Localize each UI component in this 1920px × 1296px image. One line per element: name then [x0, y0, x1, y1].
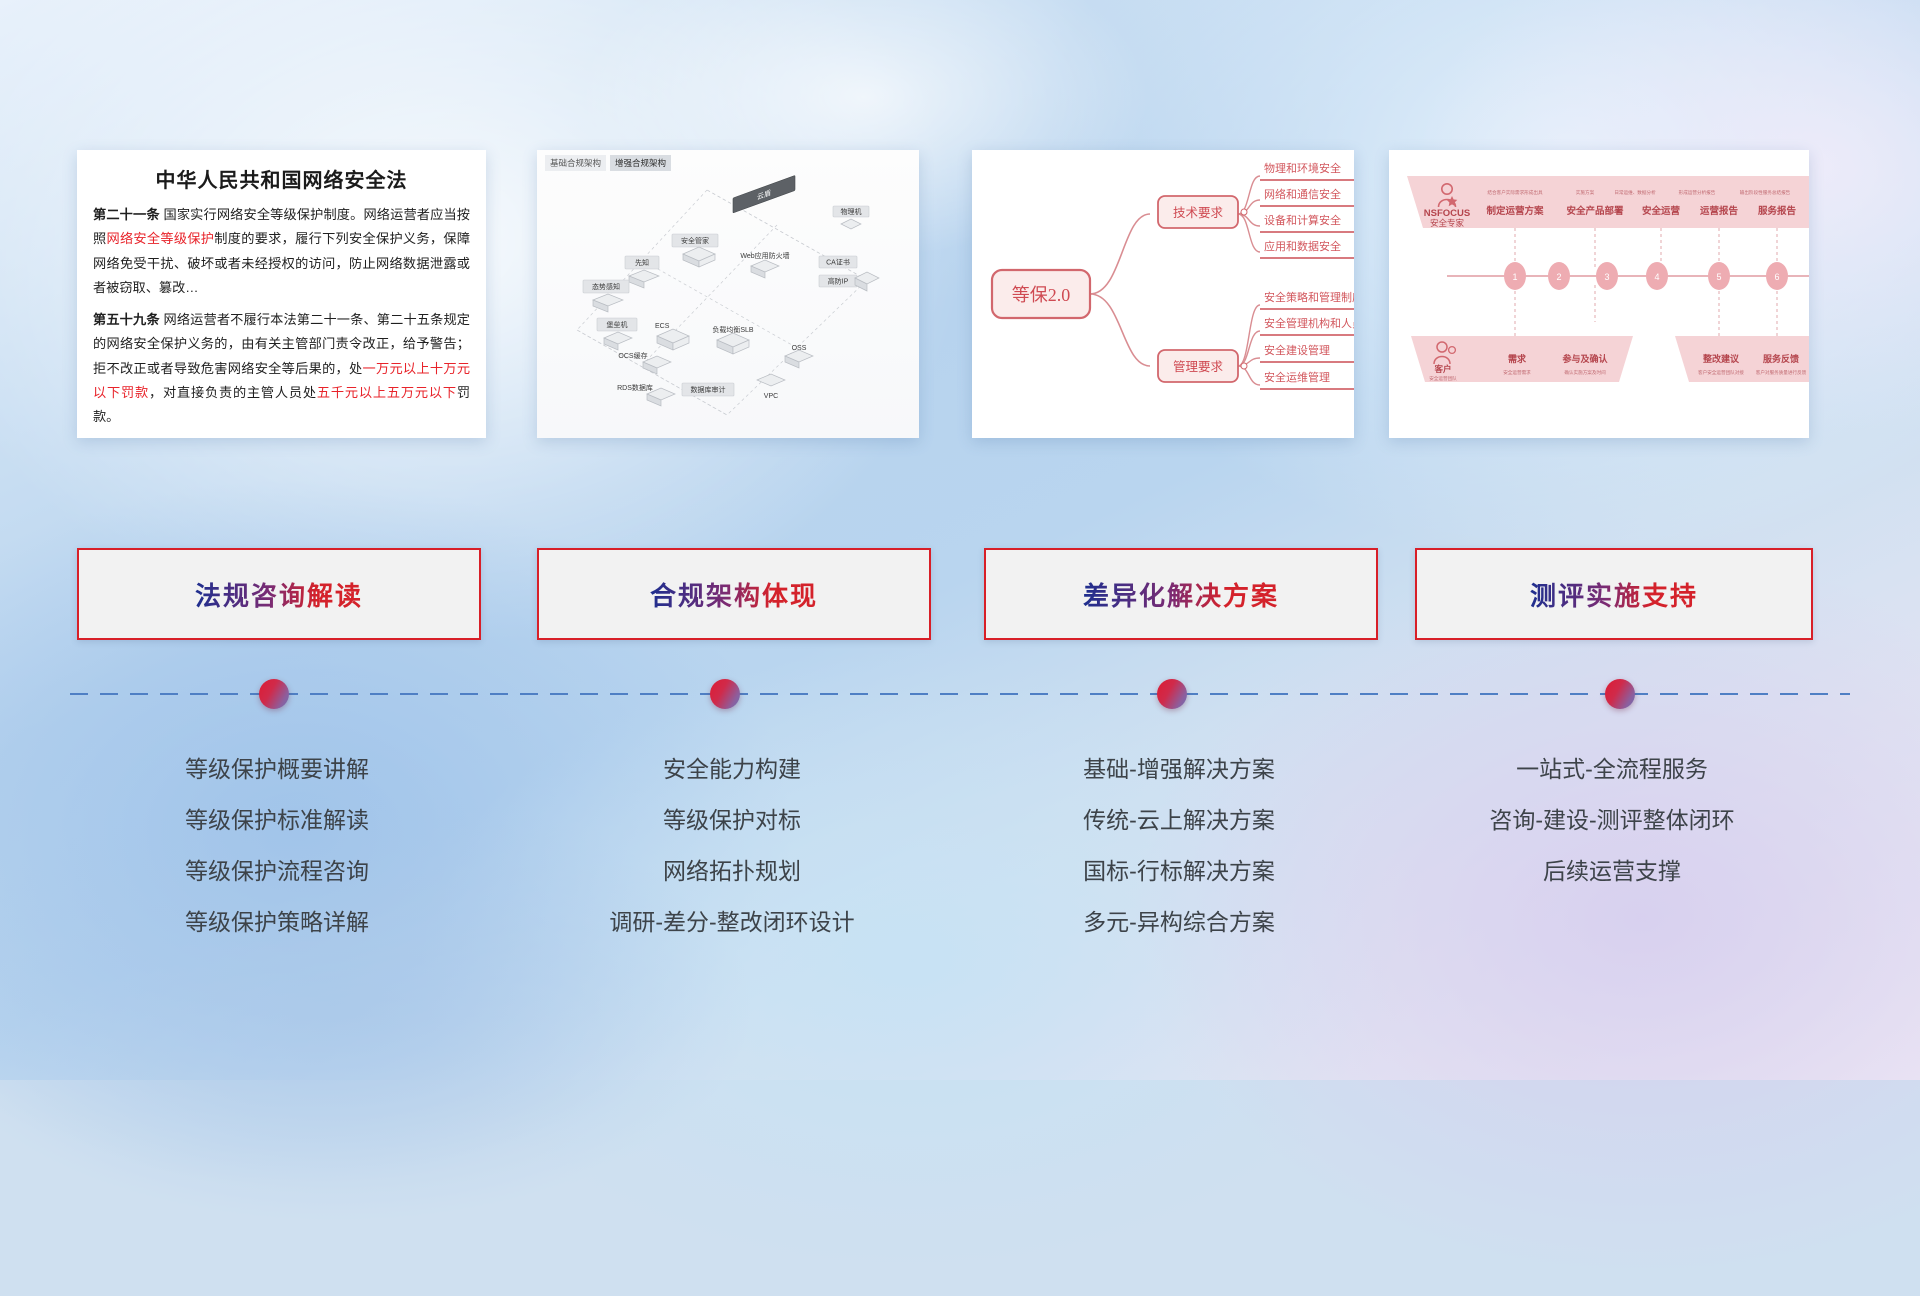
stage-button-1[interactable]: 合规架构体现 — [537, 548, 931, 640]
nsfocus-bottom-title-1: 参与及确认 — [1562, 353, 1608, 364]
timeline-dot-2 — [1157, 679, 1187, 709]
arch-node-ecs: ECS — [655, 323, 670, 330]
list-item: 等级保护流程咨询 — [77, 846, 477, 897]
nsfocus-diagram: NSFOCUS 安全专家 结合客户实际需求形成出具 实施方案 日常运维、数据分析… — [1389, 150, 1809, 438]
stage-list-3: 一站式-全流程服务 咨询-建设-测评整体闭环 后续运营支撑 — [1415, 744, 1809, 897]
illustration-card-row: 中华人民共和国网络安全法 第二十一条 国家实行网络安全等级保护制度。网络运营者应… — [0, 150, 1920, 450]
architecture-svg: 云盾 安全管家 先知 — [537, 150, 919, 438]
list-item: 传统-云上解决方案 — [984, 795, 1374, 846]
nsfocus-top-title-1: 安全产品部署 — [1566, 205, 1624, 217]
nsfocus-top-sub-4: 输出阶段性服务总结报告 — [1740, 189, 1791, 196]
nsfocus-top-sub-0: 结合客户实际需求形成出具 — [1487, 189, 1543, 196]
list-item: 安全能力构建 — [537, 744, 927, 795]
stage-detail-lists: 等级保护概要讲解 等级保护标准解读 等级保护流程咨询 等级保护策略详解 安全能力… — [0, 744, 1920, 974]
arch-node-gaofangip: 高防IP — [828, 277, 849, 286]
law-article-59: 第五十九条 网络运营者不履行本法第二十一条、第二十五条规定的网络安全保护义务的，… — [93, 308, 470, 430]
law-article-59-highlight-b: 五千元以上五万元以下 — [317, 385, 457, 400]
timeline-dot-0 — [259, 679, 289, 709]
nsfocus-bottom-sub-3: 客户对服务质量进行反馈 — [1756, 369, 1807, 376]
arch-node-server-top: 物理机 — [841, 207, 862, 216]
nsfocus-top-sub-1: 实施方案 — [1576, 189, 1595, 196]
law-article-21-label: 第二十一条 — [93, 207, 160, 222]
nsfocus-brand-sub: 安全专家 — [1430, 218, 1465, 228]
nsfocus-step-1: 2 — [1556, 272, 1561, 282]
law-title: 中华人民共和国网络安全法 — [93, 164, 470, 193]
nsfocus-top-title-2: 安全运营 — [1642, 205, 1681, 217]
list-item: 等级保护概要讲解 — [77, 744, 477, 795]
nsfocus-persona-sub: 安全运营团队 — [1429, 375, 1457, 382]
card-cybersecurity-law: 中华人民共和国网络安全法 第二十一条 国家实行网络安全等级保护制度。网络运营者应… — [77, 150, 486, 438]
arch-node-vpc: VPC — [764, 393, 778, 400]
stage-button-3[interactable]: 测评实施支持 — [1415, 548, 1813, 640]
mindmap-branch-0-child-2: 设备和计算安全 — [1264, 213, 1341, 227]
timeline-dashed-line — [70, 693, 1850, 695]
arch-node-shujukushenji: 数据库审计 — [691, 385, 726, 394]
card-nsfocus-timeline: NSFOCUS 安全专家 结合客户实际需求形成出具 实施方案 日常运维、数据分析… — [1389, 150, 1809, 438]
slide-stage: 中华人民共和国网络安全法 第二十一条 国家实行网络安全等级保护制度。网络运营者应… — [0, 0, 1920, 1080]
stage-list-0: 等级保护概要讲解 等级保护标准解读 等级保护流程咨询 等级保护策略详解 — [77, 744, 477, 948]
nsfocus-step-4: 5 — [1716, 272, 1721, 282]
list-item: 一站式-全流程服务 — [1415, 744, 1809, 795]
mindmap-branch-1-child-0: 安全策略和管理制度 — [1264, 290, 1354, 304]
nsfocus-step-2: 3 — [1604, 272, 1609, 282]
list-item: 基础-增强解决方案 — [984, 744, 1374, 795]
law-article-59-text-b: ，对直接负责的主管人员处 — [149, 385, 317, 400]
stage-list-2: 基础-增强解决方案 传统-云上解决方案 国标-行标解决方案 多元-异构综合方案 — [984, 744, 1374, 948]
stage-button-2-label: 差异化解决方案 — [1083, 576, 1279, 613]
timeline-dot-1 — [710, 679, 740, 709]
mindmap-branch-0-label: 技术要求 — [1173, 206, 1224, 220]
nsfocus-top-title-3: 运营报告 — [1700, 205, 1739, 217]
list-item: 等级保护策略详解 — [77, 897, 477, 948]
list-item: 调研-差分-整改闭环设计 — [537, 897, 927, 948]
stage-button-3-label: 测评实施支持 — [1530, 576, 1698, 613]
nsfocus-bottom-title-3: 服务反馈 — [1763, 353, 1799, 364]
list-item: 网络拓扑规划 — [537, 846, 927, 897]
nsfocus-bottom-title-0: 需求 — [1508, 353, 1527, 364]
mindmap-branch-0-child-1: 网络和通信安全 — [1264, 187, 1341, 201]
stage-button-0-label: 法规咨询解读 — [195, 576, 363, 613]
nsfocus-top-title-0: 制定运营方案 — [1486, 205, 1544, 217]
nsfocus-top-sub-3: 形成运营分析报告 — [1679, 189, 1716, 196]
stage-button-2[interactable]: 差异化解决方案 — [984, 548, 1378, 640]
law-article-21: 第二十一条 国家实行网络安全等级保护制度。网络运营者应当按照网络安全等级保护制度… — [93, 203, 470, 301]
list-item: 等级保护对标 — [537, 795, 927, 846]
architecture-diagram: 基础合规架构 增强合规架构 云盾 — [537, 150, 919, 438]
arch-node-ca: CA证书 — [826, 258, 850, 267]
stage-button-0[interactable]: 法规咨询解读 — [77, 548, 481, 640]
nsfocus-bottom-sub-2: 客户安全运营团队对接 — [1698, 369, 1744, 376]
mindmap-root-label: 等保2.0 — [1012, 285, 1071, 305]
nsfocus-bottom-title-2: 整改建议 — [1702, 353, 1740, 364]
arch-node-xianzhi: 先知 — [635, 258, 649, 267]
mindmap-branch-1-label: 管理要求 — [1173, 359, 1224, 374]
list-item: 等级保护标准解读 — [77, 795, 477, 846]
nsfocus-persona-label: 客户 — [1433, 364, 1451, 374]
arch-node-rds: RDS数据库 — [617, 383, 653, 392]
arch-node-taishiganzhi: 态势感知 — [592, 282, 620, 291]
mindmap-branch-1-child-1: 安全管理机构和人员 — [1264, 316, 1354, 330]
nsfocus-step-5: 6 — [1774, 272, 1779, 282]
mindmap-branch-0-child-0: 物理和环境安全 — [1264, 161, 1341, 175]
mindmap-svg: 等保2.0 技术要求 物理和环境安全 网络和通信安全 设备和计算安全 应用和数据… — [972, 150, 1354, 438]
nsfocus-bottom-sub-1: 确认实施方案及时间 — [1564, 369, 1606, 376]
list-item: 多元-异构综合方案 — [984, 897, 1374, 948]
arch-node-ocs: OCS缓存 — [618, 351, 647, 360]
stage-button-row: 法规咨询解读 合规架构体现 差异化解决方案 测评实施支持 — [0, 548, 1920, 640]
list-item: 国标-行标解决方案 — [984, 846, 1374, 897]
list-item: 后续运营支撑 — [1415, 846, 1809, 897]
arch-node-anquanguanjia: 安全管家 — [681, 236, 709, 245]
card-mindmap-dengbao: 等保2.0 技术要求 物理和环境安全 网络和通信安全 设备和计算安全 应用和数据… — [972, 150, 1354, 438]
nsfocus-step-0: 1 — [1512, 272, 1517, 282]
mindmap-branch-1-child-3: 安全运维管理 — [1264, 370, 1330, 384]
nsfocus-svg: NSFOCUS 安全专家 结合客户实际需求形成出具 实施方案 日常运维、数据分析… — [1389, 150, 1809, 438]
stage-list-1: 安全能力构建 等级保护对标 网络拓扑规划 调研-差分-整改闭环设计 — [537, 744, 927, 948]
arch-node-waf: Web应用防火墙 — [740, 251, 789, 260]
mindmap: 等保2.0 技术要求 物理和环境安全 网络和通信安全 设备和计算安全 应用和数据… — [972, 150, 1354, 438]
stage-button-1-label: 合规架构体现 — [650, 576, 818, 613]
law-article-59-label: 第五十九条 — [93, 312, 160, 327]
law-article-21-highlight: 网络安全等级保护 — [106, 231, 214, 246]
card-cloud-architecture: 基础合规架构 增强合规架构 云盾 — [537, 150, 919, 438]
arch-node-slb: 负载均衡SLB — [712, 325, 754, 334]
nsfocus-bottom-sub-0: 安全运营需求 — [1503, 369, 1531, 376]
nsfocus-top-sub-2: 日常运维、数据分析 — [1614, 189, 1656, 196]
arch-node-baoleiji: 堡垒机 — [607, 320, 628, 329]
law-document: 中华人民共和国网络安全法 第二十一条 国家实行网络安全等级保护制度。网络运营者应… — [77, 150, 486, 438]
nsfocus-step-3: 4 — [1654, 272, 1659, 282]
list-item: 咨询-建设-测评整体闭环 — [1415, 795, 1809, 846]
timeline-dot-3 — [1605, 679, 1635, 709]
nsfocus-top-title-4: 服务报告 — [1758, 205, 1797, 217]
mindmap-branch-1-child-2: 安全建设管理 — [1264, 343, 1330, 357]
mindmap-branch-0-child-3: 应用和数据安全 — [1264, 239, 1341, 253]
